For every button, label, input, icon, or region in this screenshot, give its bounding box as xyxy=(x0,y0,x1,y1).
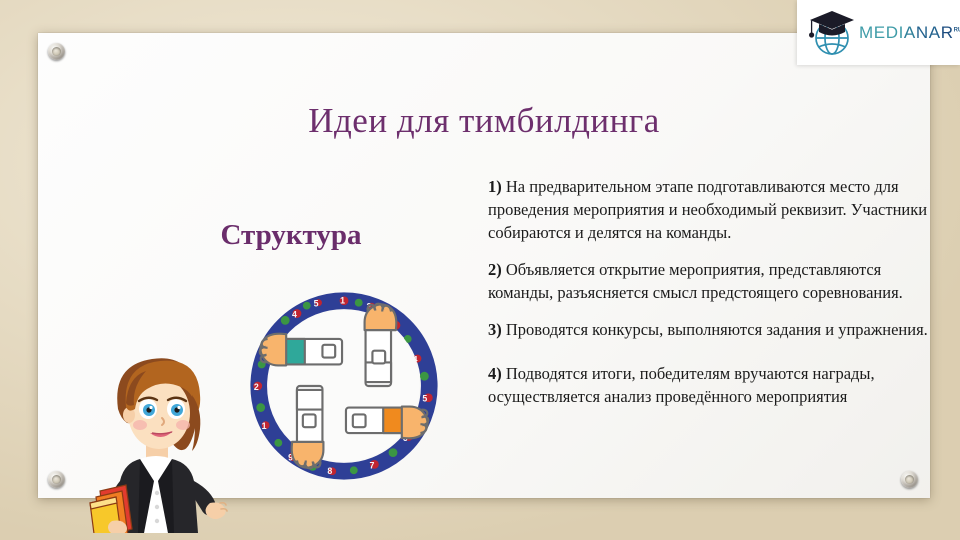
page-title: Идеи для тимбилдинга xyxy=(38,101,930,141)
medianar-wordmark: MEDIANARRU xyxy=(859,23,960,43)
svg-text:4: 4 xyxy=(292,309,297,319)
wordmark-part-4: R xyxy=(941,23,954,42)
list-item-number: 1) xyxy=(488,177,502,196)
medianar-logo[interactable]: MEDIANARRU xyxy=(797,0,960,65)
svg-text:1: 1 xyxy=(340,296,345,306)
svg-text:2: 2 xyxy=(254,382,259,392)
list-item-text: Объявляется открытие мероприятия, предст… xyxy=(488,260,903,302)
svg-text:8: 8 xyxy=(327,466,332,476)
list-item-text: На предварительном этапе подготавливаютс… xyxy=(488,177,927,242)
list-item-text: Подводятся итоги, победителям вручаются … xyxy=(488,364,875,406)
screw-top-left-icon xyxy=(48,43,65,60)
list-item-number: 4) xyxy=(488,364,502,383)
svg-text:5: 5 xyxy=(422,394,427,404)
list-item-number: 2) xyxy=(488,260,502,279)
screw-bottom-left-icon xyxy=(48,471,65,488)
list-item: 1) На предварительном этапе подготавлива… xyxy=(488,175,934,244)
list-item: 4) Подводятся итоги, победителям вручают… xyxy=(488,362,934,408)
steps-list: 1) На предварительном этапе подготавлива… xyxy=(488,175,934,408)
screw-bottom-right-icon xyxy=(901,471,918,488)
svg-text:7: 7 xyxy=(369,460,374,470)
svg-text:5: 5 xyxy=(314,299,319,309)
globe-graduation-cap-icon xyxy=(806,7,856,59)
slide-panel: Идеи для тимбилдинга Структура 1) На пре… xyxy=(38,33,930,498)
list-item-number: 3) xyxy=(488,320,502,339)
section-heading: Структура xyxy=(148,219,434,252)
list-item-text: Проводятся конкурсы, выполняются задания… xyxy=(506,320,928,339)
section-heading-divider xyxy=(148,262,433,264)
svg-text:1: 1 xyxy=(262,421,267,431)
woman-with-books-illustration xyxy=(82,345,230,533)
wordmark-part-2: A xyxy=(904,23,916,42)
list-item: 2) Объявляется открытие мероприятия, пре… xyxy=(488,258,934,304)
wordmark-part-3: NA xyxy=(916,23,941,42)
four-hands-circle-icon: 12 34 56 78 91 23 45 xyxy=(246,288,442,484)
wordmark-part-1: MEDI xyxy=(859,23,904,42)
list-item: 3) Проводятся конкурсы, выполняются зада… xyxy=(488,318,934,341)
wordmark-tld: RU xyxy=(954,27,960,33)
